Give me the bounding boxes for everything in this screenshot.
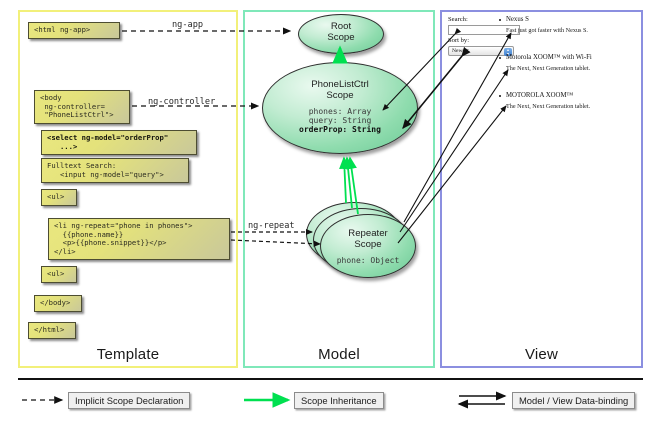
edge-label-ng-app: ng-app <box>172 20 203 30</box>
phone-name: Motorola XOOM™ with Wi-Fi <box>506 54 636 62</box>
phonelistctrl-scope-title-line1: PhoneListCtrl <box>263 79 417 90</box>
repeater-scope-title-line1: Repeater <box>321 228 415 239</box>
code-note-html-open: <html ng-app> <box>28 22 120 39</box>
code-note-select: <select ng-model="orderProp" ...> <box>41 130 197 155</box>
view-browser-panel: Search: Sort by: Newest Nexus S Fast jus… <box>448 16 638 126</box>
phonelistctrl-scope-prop-query: query: String <box>263 116 417 125</box>
edge-label-ng-repeat: ng-repeat <box>248 221 295 231</box>
phone-snippet: Fast just got faster with Nexus S. <box>506 27 636 35</box>
phonelistctrl-scope-prop-phones: phones: Array <box>263 107 417 116</box>
code-note-ul-close: <ul> <box>41 266 77 283</box>
legend-line-databinding <box>459 396 505 404</box>
bullet-icon <box>499 19 501 21</box>
repeater-scope-ellipse: Repeater Scope phone: Object <box>320 214 416 278</box>
search-label: Search: <box>448 16 468 23</box>
root-scope-title-line2: Scope <box>299 32 383 43</box>
code-note-body-close: </body> <box>34 295 82 312</box>
phone-name: Nexus S <box>506 16 636 24</box>
column-label-model: Model <box>245 346 433 363</box>
phone-name: MOTOROLA XOOM™ <box>506 92 636 100</box>
bullet-icon <box>499 95 501 97</box>
phone-list-item[interactable]: Motorola XOOM™ with Wi-Fi The Next, Next… <box>506 54 636 73</box>
edge-label-ng-controller: ng-controller <box>148 97 215 107</box>
phonelistctrl-scope-title-line2: Scope <box>263 90 417 101</box>
bullet-icon <box>499 57 501 59</box>
legend-item-scope-inheritance: Scope Inheritance <box>294 392 384 409</box>
sort-by-selected-value: Newest <box>452 48 469 54</box>
code-note-html-close: </html> <box>28 322 76 339</box>
root-scope-ellipse: Root Scope <box>298 14 384 54</box>
column-label-view: View <box>442 346 641 363</box>
sort-by-select[interactable]: Newest <box>448 46 514 56</box>
legend-divider <box>18 378 643 380</box>
repeater-scope-prop-phone: phone: Object <box>321 256 415 265</box>
column-label-template: Template <box>20 346 236 363</box>
code-note-li-repeat: <li ng-repeat="phone in phones"> {{phone… <box>48 218 230 260</box>
code-note-ul-open: <ul> <box>41 189 77 206</box>
phone-list-item[interactable]: MOTOROLA XOOM™ The Next, Next Generation… <box>506 92 636 111</box>
phonelistctrl-scope-ellipse: PhoneListCtrl Scope phones: Array query:… <box>262 62 418 154</box>
phonelistctrl-scope-prop-orderprop: orderProp: String <box>263 125 417 134</box>
code-note-search-input: Fulltext Search: <input ng-model="query"… <box>41 158 189 183</box>
code-note-body-open: <body ng-controller= "PhoneListCtrl"> <box>34 90 130 124</box>
root-scope-title-line1: Root <box>299 21 383 32</box>
sort-by-label: Sort by: <box>448 37 469 44</box>
diagram-canvas: Template Model View <html ng-app> <body … <box>0 0 661 425</box>
legend-item-model-view-data-binding: Model / View Data-binding <box>512 392 635 409</box>
legend-item-implicit-scope-declaration: Implicit Scope Declaration <box>68 392 190 409</box>
repeater-scope-title-line2: Scope <box>321 239 415 250</box>
phone-list-item[interactable]: Nexus S Fast just got faster with Nexus … <box>506 16 636 35</box>
phone-snippet: The Next, Next Generation tablet. <box>506 103 636 111</box>
phone-snippet: The Next, Next Generation tablet. <box>506 65 636 73</box>
